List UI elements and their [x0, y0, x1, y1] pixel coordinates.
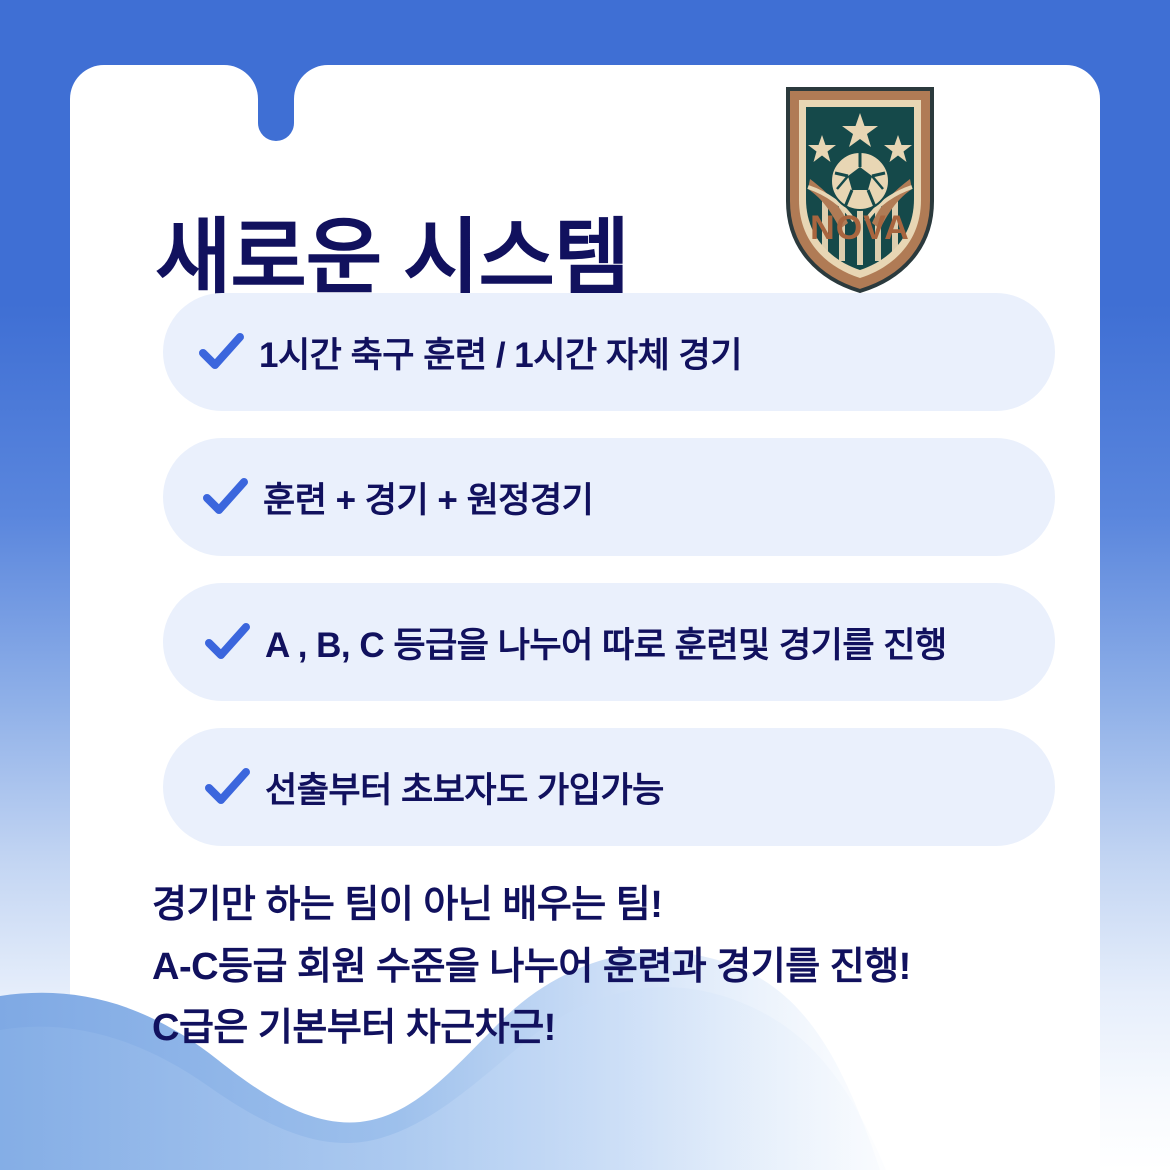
nova-club-crest-icon: NOVA [782, 83, 938, 297]
footer-line-2: A-C등급 회원 수준을 나누어 훈련과 경기를 진행! [152, 937, 1052, 999]
check-icon [201, 761, 253, 813]
check-icon [195, 326, 247, 378]
feature-item-label: 1시간 축구 훈련 / 1시간 자체 경기 [259, 327, 742, 378]
footer-line-3: C급은 기본부터 차근차근! [152, 998, 1052, 1060]
feature-item-label: 훈련 + 경기 + 원정경기 [263, 472, 593, 523]
check-icon [199, 471, 251, 523]
footer-line-1: 경기만 하는 팀이 아닌 배우는 팀! [152, 875, 1052, 937]
feature-item-label: 선출부터 초보자도 가입가능 [265, 762, 664, 813]
feature-item-4[interactable]: 선출부터 초보자도 가입가능 [163, 728, 1055, 846]
feature-item-3[interactable]: A , B, C 등급을 나누어 따로 훈련및 경기를 진행 [163, 583, 1055, 701]
svg-text:NOVA: NOVA [810, 209, 910, 247]
feature-item-2[interactable]: 훈련 + 경기 + 원정경기 [163, 438, 1055, 556]
poster-root: 새로운 시스템 [0, 0, 1170, 1170]
feature-item-label: A , B, C 등급을 나누어 따로 훈련및 경기를 진행 [265, 617, 947, 668]
feature-item-1[interactable]: 1시간 축구 훈련 / 1시간 자체 경기 [163, 293, 1055, 411]
page-title: 새로운 시스템 [155, 216, 629, 299]
footer-description: 경기만 하는 팀이 아닌 배우는 팀! A-C등급 회원 수준을 나누어 훈련과… [152, 875, 1052, 1060]
check-icon [201, 616, 253, 668]
feature-list: 1시간 축구 훈련 / 1시간 자체 경기 훈련 + 경기 + 원정경기 A ,… [163, 293, 1055, 873]
card-content: 새로운 시스템 [70, 65, 1100, 1125]
